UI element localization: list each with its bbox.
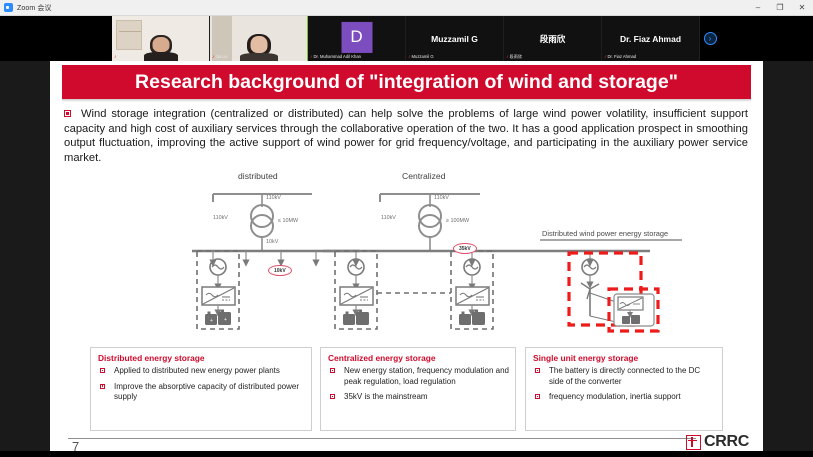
participant-name-1: ♪ Jia Liu (211, 54, 229, 60)
chevron-right-icon: › (704, 32, 717, 45)
participant-tile-2[interactable]: D ♪ Dr. Muhammad Adil Khan (308, 16, 406, 61)
slide-body-paragraph: Wind storage integration (centralized or… (64, 107, 748, 165)
square-bullet-icon (330, 368, 335, 373)
window-titlebar: Zoom 会议 – ❐ ✕ (0, 0, 813, 16)
note-list: The battery is directly connected to the… (533, 366, 716, 403)
list-item: 35kV is the mainstream (328, 392, 509, 403)
crrc-wordmark: CRRC (704, 433, 749, 451)
right-side-kv-label: 110kV (381, 215, 396, 221)
list-item: The battery is directly connected to the… (533, 366, 716, 387)
mic-icon: ♪ (506, 55, 509, 60)
diagram-svg: + + (50, 171, 763, 346)
list-item: frequency modulation, inertia support (533, 392, 716, 403)
participant-name-3: ♪ Muzzamil G (407, 54, 435, 60)
summary-note-boxes: Distributed energy storage Applied to di… (90, 347, 730, 431)
close-button[interactable]: ✕ (791, 0, 813, 16)
footer-divider (68, 438, 696, 439)
square-bullet-icon (330, 394, 335, 399)
mic-icon: ♪ (212, 55, 215, 60)
note-list: New energy station, frequency modulation… (328, 366, 509, 403)
crrc-logo: CRRC (686, 433, 749, 451)
participant-tile-1[interactable]: ♪ Jia Liu (210, 16, 308, 61)
svg-text:+: + (224, 317, 227, 323)
zoom-icon (4, 3, 13, 12)
one-line-diagram: + + (50, 171, 763, 346)
note-title: Distributed energy storage (98, 353, 305, 363)
highlight-10kv-tag: 10kV (268, 265, 292, 276)
slide-body-text: Wind storage integration (centralized or… (64, 108, 748, 164)
participant-name-4: ♪ 段雨欣 (505, 54, 523, 60)
slide-title: Research background of "integration of w… (62, 65, 751, 99)
list-item: Improve the absorptive capacity of distr… (98, 382, 305, 403)
mic-icon: ♪ (310, 55, 313, 60)
window-title: Zoom 会议 (17, 3, 52, 13)
minimize-button[interactable]: – (747, 0, 769, 16)
mic-icon: ♪ (114, 55, 117, 60)
note-list: Applied to distributed new energy power … (98, 366, 305, 403)
note-centralized-energy-storage: Centralized energy storage New energy st… (320, 347, 516, 431)
avatar: D (341, 21, 372, 52)
left-side-kv-label: 110kV (213, 215, 228, 221)
distributed-wind-storage-label: Distributed wind power energy storage (542, 229, 668, 238)
note-title: Centralized energy storage (328, 353, 509, 363)
crrc-mark-icon (686, 435, 701, 450)
maximize-button[interactable]: ❐ (769, 0, 791, 16)
note-distributed-energy-storage: Distributed energy storage Applied to di… (90, 347, 312, 431)
square-bullet-icon (535, 394, 540, 399)
participant-name-0: ♪ li yan (113, 54, 128, 60)
participant-tile-3[interactable]: Muzzamil G ♪ Muzzamil G (406, 16, 504, 61)
list-item: Applied to distributed new energy power … (98, 366, 305, 377)
window-controls: – ❐ ✕ (747, 0, 813, 16)
note-single-unit-energy-storage: Single unit energy storage The battery i… (525, 347, 723, 431)
participant-name-2: ♪ Dr. Muhammad Adil Khan (309, 54, 362, 60)
highlight-35kv-tag: 35kV (453, 243, 477, 254)
shared-slide: Research background of "integration of w… (50, 61, 763, 457)
participant-tile-0[interactable]: ♪ li yan (112, 16, 210, 61)
right-capacity-label: ≥ 100MW (446, 218, 469, 224)
left-top-kv-label: 110kV (266, 195, 281, 201)
square-bullet-icon (64, 110, 71, 117)
window-bottom-edge (0, 451, 813, 457)
square-bullet-icon (535, 368, 540, 373)
participant-tile-5[interactable]: Dr. Fiaz Ahmad ♪ Dr. Fiaz Ahmad (602, 16, 700, 61)
diagram-label-centralized: Centralized (402, 171, 445, 181)
participant-filmstrip[interactable]: ♪ li yan ♪ Jia Liu D ♪ Dr. Muhammad (0, 16, 813, 61)
filmstrip-left-spacer (0, 16, 112, 61)
zoom-meeting-window: Zoom 会议 – ❐ ✕ ♪ li yan (0, 0, 813, 457)
square-bullet-icon (100, 368, 105, 373)
left-bus-kv-label: 10kV (266, 239, 278, 245)
list-item: New energy station, frequency modulation… (328, 366, 509, 387)
note-title: Single unit energy storage (533, 353, 716, 363)
square-bullet-icon (100, 384, 105, 389)
mic-icon: ♪ (408, 55, 411, 60)
svg-text:+: + (210, 318, 213, 324)
diagram-label-distributed: distributed (238, 171, 278, 181)
participant-tile-4[interactable]: 段雨欣 ♪ 段雨欣 (504, 16, 602, 61)
left-capacity-label: ≤ 10MW (278, 218, 298, 224)
filmstrip-next-button[interactable]: › (700, 16, 720, 61)
title-divider (62, 99, 751, 102)
participant-name-5: ♪ Dr. Fiaz Ahmad (603, 54, 637, 60)
right-top-kv-label: 110kV (434, 195, 449, 201)
mic-icon: ♪ (604, 55, 607, 60)
